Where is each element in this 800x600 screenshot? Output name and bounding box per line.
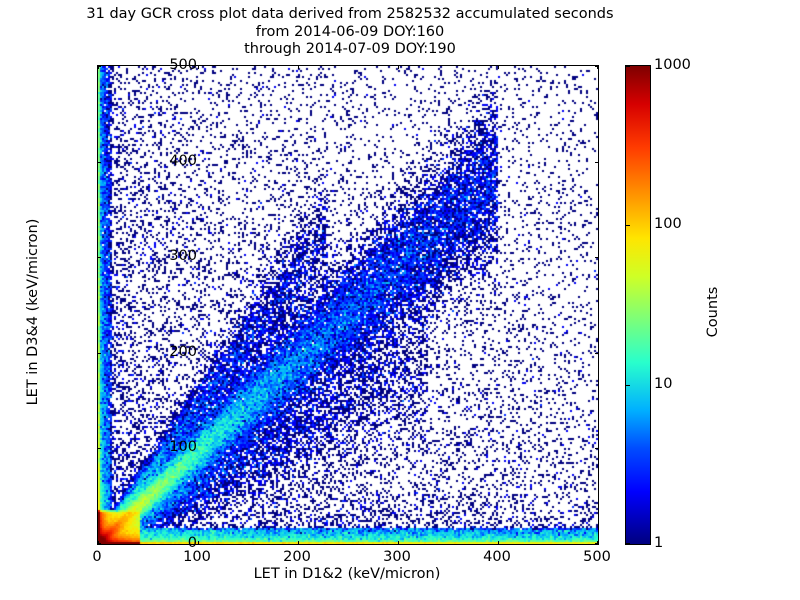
y-tick-label-100: 100 — [169, 439, 197, 455]
y-tick-0 — [595, 543, 599, 544]
x-tick-label-300: 300 — [383, 549, 411, 565]
y-tick-400 — [97, 162, 101, 163]
y-tick-200 — [595, 353, 599, 354]
y-tick-300 — [97, 257, 101, 258]
x-tick-100 — [198, 541, 199, 545]
colorbar-tick-label-10: 10 — [654, 376, 672, 392]
colorbar-tick-100 — [625, 225, 630, 226]
y-tick-label-200: 200 — [169, 344, 197, 360]
colorbar-tick-10 — [625, 385, 630, 386]
title-line-3: through 2014-07-09 DOY:190 — [0, 41, 700, 59]
y-tick-500 — [595, 66, 599, 67]
x-tick-label-400: 400 — [483, 549, 511, 565]
y-tick-label-0: 0 — [188, 535, 197, 551]
title-line-2: from 2014-06-09 DOY:160 — [0, 24, 700, 42]
plot-area — [97, 65, 599, 545]
y-tick-100 — [595, 448, 599, 449]
y-tick-400 — [595, 162, 599, 163]
y-tick-100 — [97, 448, 101, 449]
y-tick-500 — [97, 66, 101, 67]
y-tick-label-300: 300 — [169, 248, 197, 264]
y-tick-300 — [595, 257, 599, 258]
x-axis-label: LET in D1&2 (keV/micron) — [97, 566, 597, 582]
colorbar-tick-1 — [625, 543, 630, 544]
chart-title: 31 day GCR cross plot data derived from … — [0, 6, 700, 59]
x-tick-label-200: 200 — [283, 549, 311, 565]
y-tick-label-500: 500 — [169, 57, 197, 73]
y-axis-label: LET in D3&4 (keV/micron) — [25, 192, 41, 432]
title-line-1: 31 day GCR cross plot data derived from … — [0, 6, 700, 24]
x-tick-200 — [298, 541, 299, 545]
colorbar-tick-label-1000: 1000 — [654, 57, 691, 73]
x-tick-400 — [498, 65, 499, 69]
gcr-cross-plot-figure: 31 day GCR cross plot data derived from … — [0, 0, 800, 600]
colorbar-tick-1000 — [625, 66, 630, 67]
y-tick-0 — [97, 543, 101, 544]
colorbar-title: Counts — [705, 232, 721, 392]
y-tick-label-400: 400 — [169, 153, 197, 169]
y-tick-200 — [97, 353, 101, 354]
colorbar — [625, 65, 651, 545]
x-tick-label-0: 0 — [92, 549, 101, 565]
x-tick-400 — [498, 541, 499, 545]
scatter-canvas — [98, 66, 598, 544]
x-tick-100 — [198, 65, 199, 69]
x-tick-300 — [398, 541, 399, 545]
colorbar-tick-label-1: 1 — [654, 535, 663, 551]
colorbar-tick-label-100: 100 — [654, 216, 682, 232]
x-tick-200 — [298, 65, 299, 69]
x-tick-label-500: 500 — [583, 549, 611, 565]
x-tick-label-100: 100 — [183, 549, 211, 565]
x-tick-300 — [398, 65, 399, 69]
